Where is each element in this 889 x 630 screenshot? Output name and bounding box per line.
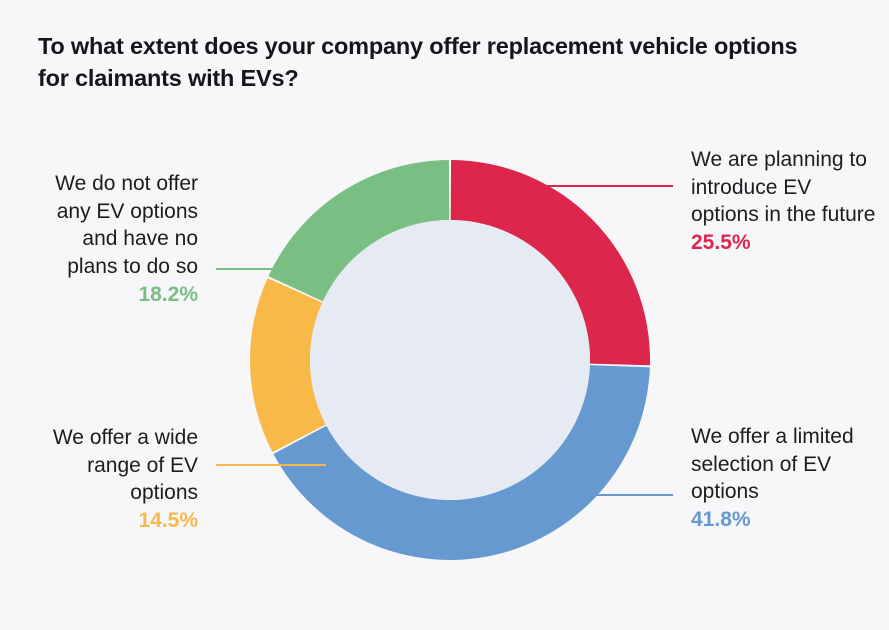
callout-planning: We are planning to introduce EV options … (691, 146, 881, 257)
leader-line-limited (565, 494, 673, 496)
callout-planning-percent: 25.5% (691, 229, 881, 257)
callout-wide-label: We offer a wide range of EV options (53, 426, 198, 504)
callout-none: We do not offer any EV options and have … (48, 170, 198, 309)
callout-none-percent: 18.2% (48, 281, 198, 309)
page-title: To what extent does your company offer r… (38, 30, 828, 95)
donut-chart-svg (250, 140, 650, 580)
leader-line-none (216, 268, 302, 270)
donut-hole (310, 220, 590, 500)
callout-wide: We offer a wide range of EV options 14.5… (48, 424, 198, 535)
callout-limited-percent: 41.8% (691, 506, 881, 534)
leader-line-wide (216, 464, 326, 466)
callout-limited-label: We offer a limited selection of EV optio… (691, 425, 854, 503)
callout-limited: We offer a limited selection of EV optio… (691, 423, 881, 534)
callout-wide-percent: 14.5% (48, 507, 198, 535)
callout-planning-label: We are planning to introduce EV options … (691, 148, 875, 226)
callout-none-label: We do not offer any EV options and have … (55, 172, 198, 278)
donut-chart (250, 140, 650, 580)
leader-line-planning (533, 185, 673, 187)
